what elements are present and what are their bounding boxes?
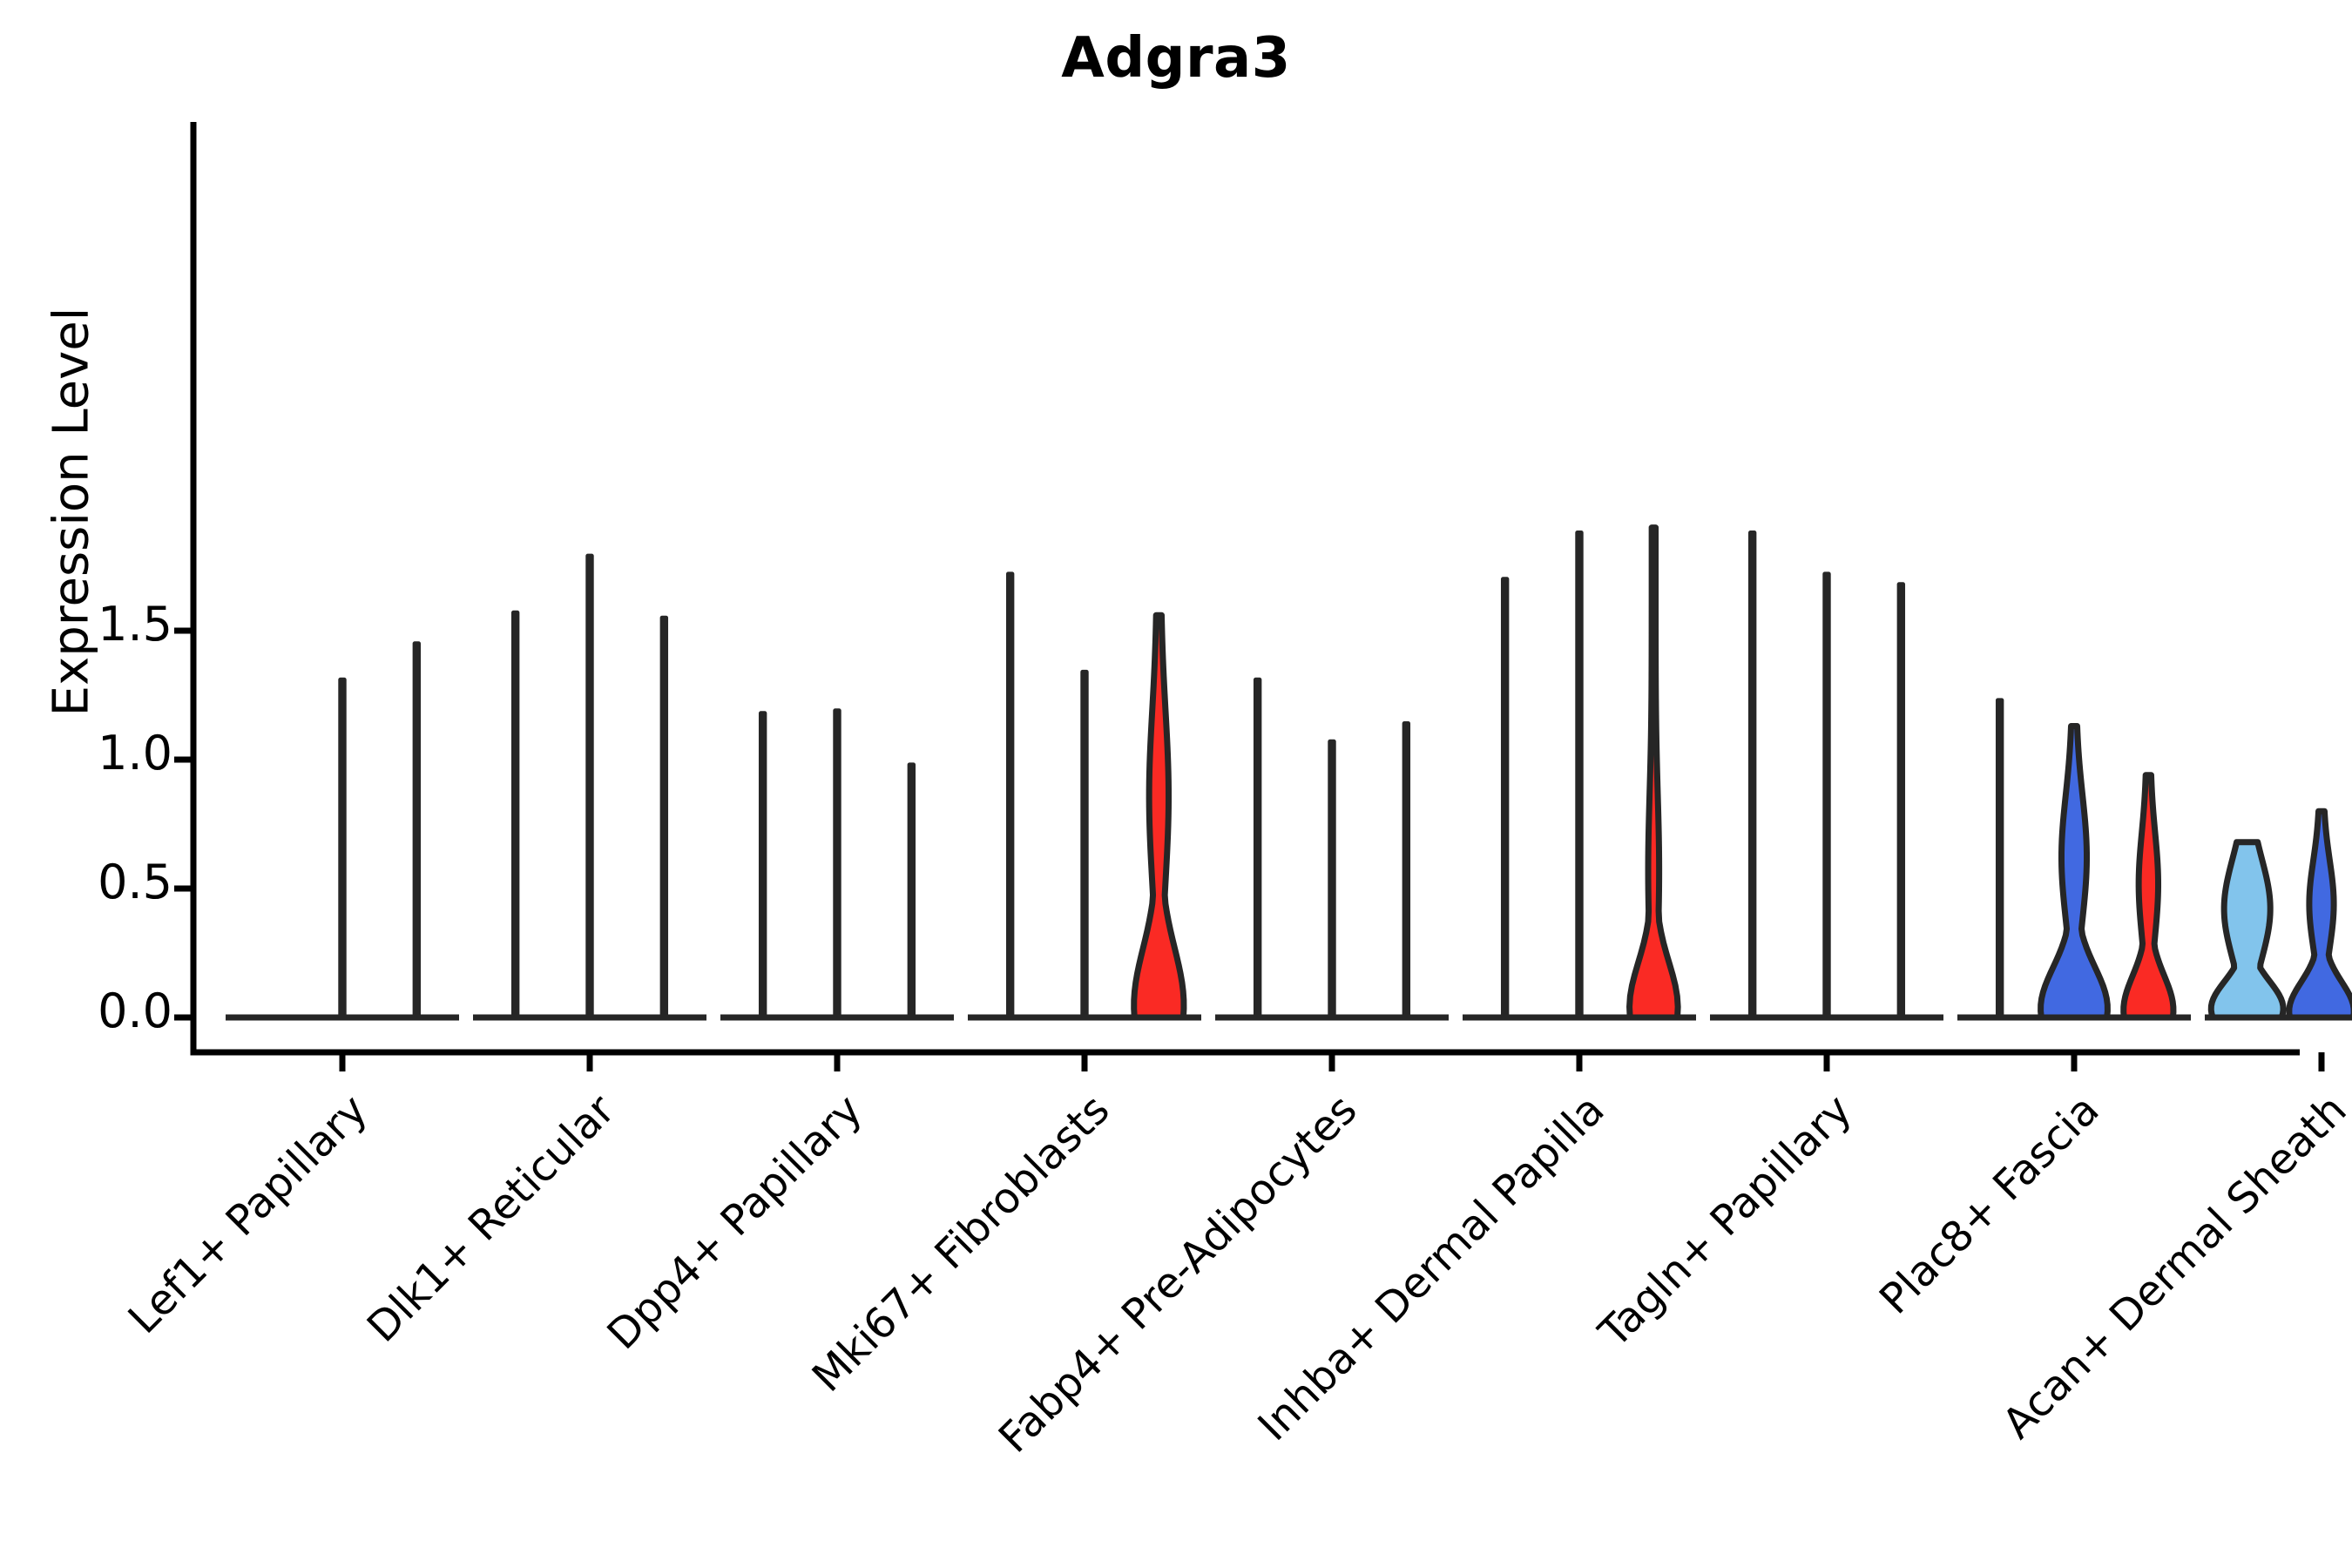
violin-shape — [2041, 727, 2108, 1017]
violin-shape — [513, 612, 517, 1017]
violin-shape — [588, 556, 591, 1017]
violin-shape — [835, 711, 839, 1017]
violin-shape — [415, 644, 418, 1017]
violin-shape — [1404, 724, 1408, 1017]
axis-spine — [193, 122, 2300, 1052]
violin-shape — [760, 713, 764, 1017]
violin-shape — [1899, 585, 1903, 1017]
violin-shape — [909, 765, 913, 1017]
violin-shape — [662, 618, 666, 1017]
violin-plot-figure: Adgra3 Expression Level 0.00.51.01.5 Lef… — [0, 0, 2352, 1568]
violin-shape — [1330, 741, 1334, 1017]
violin-shape — [1630, 528, 1679, 1017]
violin-shape — [2289, 811, 2352, 1017]
violin-shape — [1750, 533, 1754, 1017]
violin-shape — [1578, 533, 1581, 1017]
violin-shape — [1008, 574, 1011, 1017]
violins-layer — [226, 528, 2352, 1017]
violin-shape — [1255, 679, 1259, 1017]
violin-shape — [1083, 672, 1086, 1017]
violin-shape — [341, 679, 344, 1017]
violin-shape — [1134, 615, 1184, 1017]
violin-shape — [1503, 579, 1506, 1017]
violin-shape — [1997, 700, 2001, 1017]
violin-shape — [2211, 842, 2283, 1017]
violin-shape — [2124, 775, 2173, 1017]
violin-shape — [1825, 574, 1828, 1017]
